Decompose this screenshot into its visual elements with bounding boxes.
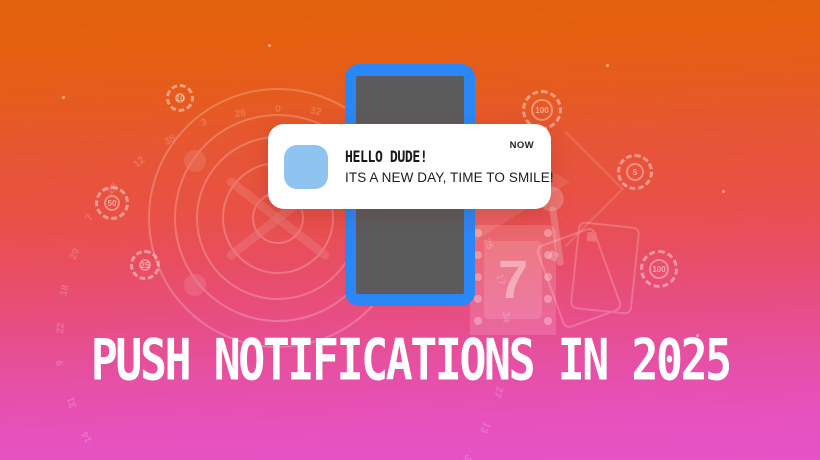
roulette-number: 34 (500, 311, 511, 323)
slot-lever-icon (549, 206, 564, 266)
chip-value: 10 (176, 94, 185, 103)
casino-chip-icon: 10 (166, 84, 194, 112)
roulette-knob-3 (184, 274, 206, 296)
chip-value: 50 (108, 199, 117, 208)
slot-reel-symbol: 7 (484, 241, 542, 319)
sparkle-dot (62, 96, 65, 99)
slot-machine-icon: 7 (470, 225, 556, 335)
card-pip-diamond (547, 250, 559, 262)
notification-body: HELLO DUDE! ITS A NEW DAY, TIME TO SMILE… (345, 148, 535, 186)
chip-value: 100 (535, 106, 548, 115)
roulette-number: 31 (66, 396, 80, 410)
casino-chip-icon: 100 (640, 250, 678, 288)
roulette-number: 18 (58, 284, 71, 297)
roulette-number: 36 (458, 452, 473, 460)
notification-title: HELLO DUDE! (345, 148, 501, 166)
banner-headline: PUSH NOTIFICATIONS IN 2025 (0, 330, 820, 392)
roulette-number: 14 (80, 430, 95, 445)
roulette-number: 12 (132, 155, 148, 171)
roulette-number: 29 (68, 247, 82, 261)
chip-value: 25 (141, 261, 150, 270)
sparkle-dot (268, 44, 271, 47)
banner-canvas: 0321519421225173462713361130823105241633… (0, 0, 820, 460)
casino-chip-icon: 25 (130, 250, 160, 280)
roulette-number: 3 (200, 117, 209, 129)
roulette-knob-1 (184, 150, 206, 172)
roulette-number: 28 (105, 181, 121, 197)
roulette-number: 32 (309, 105, 322, 118)
roulette-number: 17 (493, 273, 506, 286)
chip-value: 5 (633, 168, 637, 177)
roulette-number: 35 (163, 133, 178, 148)
roulette-number: 26 (234, 107, 247, 120)
roulette-number: 7 (84, 212, 96, 223)
slot-bulbs (470, 225, 556, 335)
chip-value: 100 (652, 265, 665, 274)
casino-chip-icon: 50 (95, 186, 129, 220)
roulette-number: 13 (477, 420, 492, 435)
playing-cards-icon (548, 218, 668, 338)
playing-card-1 (535, 226, 623, 330)
push-notification-card[interactable]: HELLO DUDE! ITS A NEW DAY, TIME TO SMILE… (268, 124, 551, 209)
casino-chip-icon: 5 (617, 154, 653, 190)
card-pip-spade (587, 232, 597, 242)
roulette-number: 0 (275, 104, 281, 115)
roulette-number: 25 (481, 237, 495, 251)
notification-timestamp: NOW (510, 140, 534, 151)
playing-card-2 (570, 221, 641, 315)
sparkle-dot (606, 64, 609, 67)
notification-message: ITS A NEW DAY, TIME TO SMILE! (345, 170, 535, 185)
notification-app-icon (284, 145, 328, 189)
headline-text: PUSH NOTIFICATIONS IN 2025 (91, 329, 730, 392)
sparkle-dot (722, 190, 725, 193)
